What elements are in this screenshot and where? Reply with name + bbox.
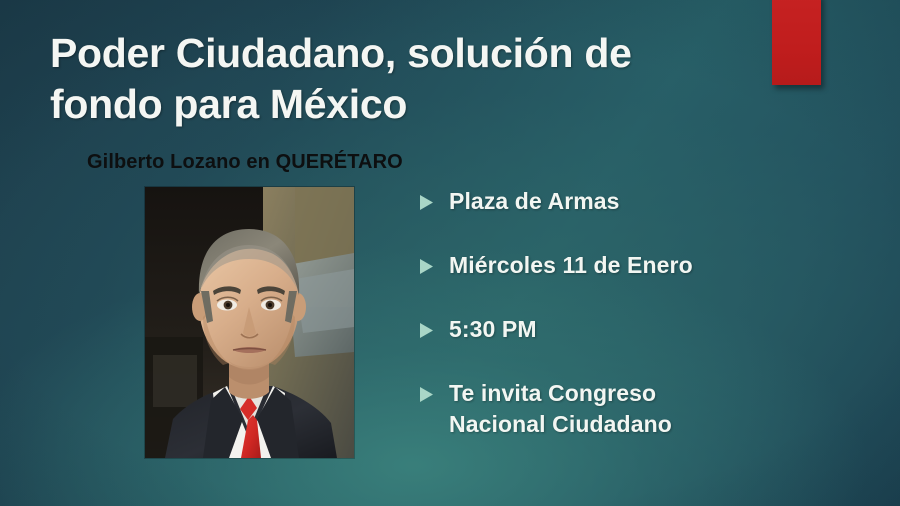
slide-subtitle: Gilberto Lozano en QUERÉTARO [87,151,403,174]
red-accent-block [772,0,821,85]
triangle-bullet-icon [420,387,433,402]
event-details-list: Plaza de Armas Miércoles 11 de Enero 5:3… [420,186,850,440]
portrait-illustration [145,187,354,458]
list-item: Miércoles 11 de Enero [420,250,850,281]
list-item: 5:30 PM [420,314,850,345]
list-item: Plaza de Armas [420,186,850,217]
list-item: Te invita Congreso Nacional Ciudadano [420,378,850,440]
speaker-portrait-photo [145,187,354,458]
triangle-bullet-icon [420,259,433,274]
triangle-bullet-icon [420,323,433,338]
list-item-label: Te invita Congreso Nacional Ciudadano [449,378,672,440]
list-item-label: 5:30 PM [449,314,537,345]
list-item-label: Miércoles 11 de Enero [449,250,693,281]
triangle-bullet-icon [420,195,433,210]
presentation-slide: Poder Ciudadano, solución de fondo para … [0,0,900,506]
slide-title: Poder Ciudadano, solución de fondo para … [50,28,750,130]
list-item-label: Plaza de Armas [449,186,620,217]
